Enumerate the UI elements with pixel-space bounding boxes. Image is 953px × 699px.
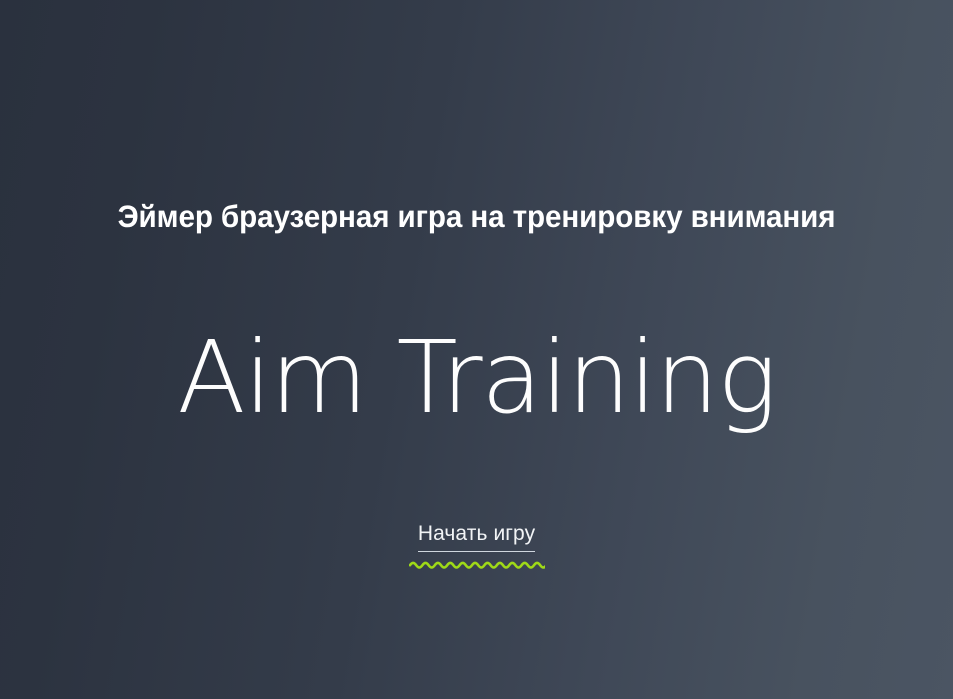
start-game-link[interactable]: Начать игру xyxy=(418,520,535,552)
wavy-underline-decoration xyxy=(409,559,545,571)
start-game-block: Начать игру xyxy=(0,520,953,571)
hero-title: Aim Training xyxy=(0,318,953,438)
page-title: Эймер браузерная игра на тренировку вним… xyxy=(21,197,931,237)
page-root: Эймер браузерная игра на тренировку вним… xyxy=(0,0,953,699)
wavy-line-icon xyxy=(409,559,545,571)
